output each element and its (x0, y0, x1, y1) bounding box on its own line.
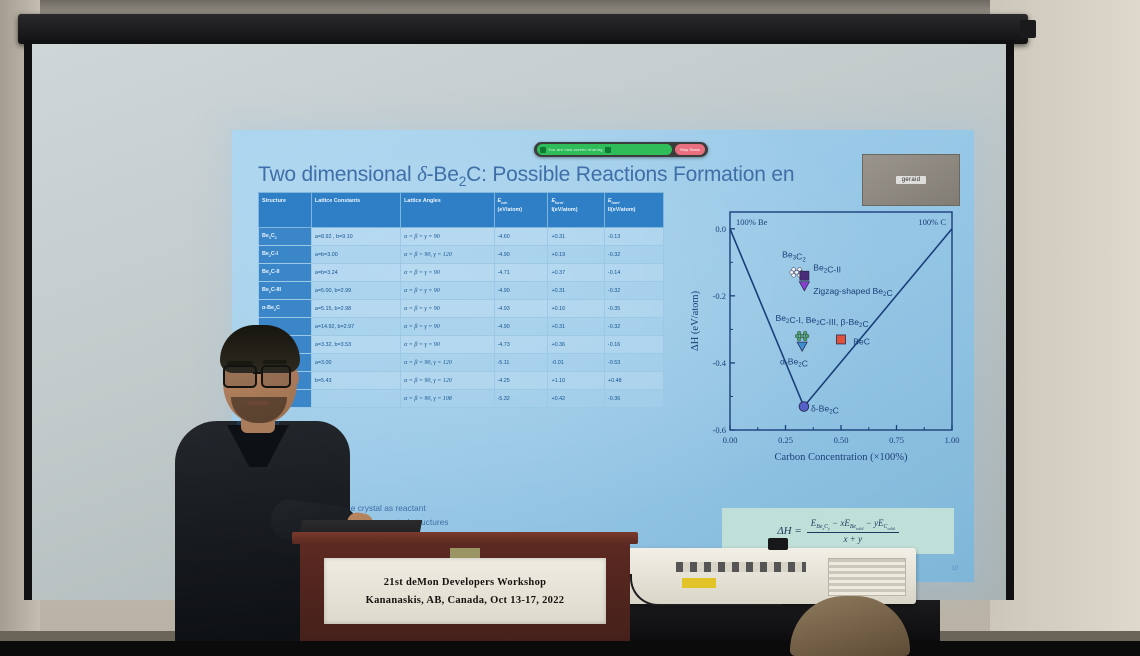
cell-eform2: -0.35 (604, 300, 663, 318)
cell-lattice-constants: a=5.00, b=2.99 (311, 282, 400, 300)
chart-corner-label-right: 100% C (918, 217, 946, 227)
screen-share-icon (540, 147, 546, 153)
chart-svg: 100% Be100% C0.000.250.500.751.000.0-0.2… (684, 186, 962, 486)
chart-ylabel: ΔH (eV/atom) (690, 290, 701, 351)
presenter-mouth (247, 401, 269, 405)
table-header-row: Structure Lattice Constants Lattice Angl… (259, 193, 664, 228)
cell-eform1: -0.01 (548, 354, 604, 372)
conference-room: You are now screen sharing Stop Share ge… (0, 0, 1140, 641)
chart-point-square (800, 271, 809, 280)
camera-icon (768, 538, 788, 550)
cell-lattice-constants: a=8.92 , b=9.10 (311, 228, 400, 246)
cell-lattice-angles: α = β = γ = 90 (401, 282, 494, 300)
cell-ecoh: -4.93 (494, 300, 548, 318)
slide-title-prefix: Two dimensional (258, 163, 417, 186)
stop-share-button[interactable]: Stop Share (675, 144, 705, 155)
cell-ecoh: -4.90 (494, 282, 548, 300)
chart-annotation: Be2C-II (813, 263, 841, 275)
table-row: Be2C-IIa=b=3.24α = β = γ = 90-4.71+0.37-… (259, 264, 664, 282)
cell-lattice-constants: a=b=3.24 (311, 264, 400, 282)
chart-point-square (837, 335, 846, 344)
cell-lattice-angles: α = β = 90, γ = 120 (401, 372, 494, 390)
projector-cable (630, 574, 782, 606)
chevron-down-icon[interactable] (605, 147, 611, 153)
marker-cluster-dot (800, 334, 804, 338)
chart-point-triangle (797, 342, 807, 351)
podium-sign-line-1: 21st deMon Developers Workshop (384, 577, 547, 588)
cell-lattice-angles: α = β = γ = 90 (401, 264, 494, 282)
projector-ports (676, 562, 806, 572)
chart-annotation: BeC (853, 336, 870, 346)
cell-eform2: -0.13 (604, 228, 663, 246)
cell-eform2: -0.32 (604, 282, 663, 300)
col-lattice-constants: Lattice Constants (311, 193, 400, 228)
formula-lhs: ΔH = (777, 525, 802, 537)
slide-title-delta: δ (417, 162, 427, 186)
slide-title-sub: 2 (459, 174, 466, 189)
cell-eform1: +0.31 (548, 282, 604, 300)
slide-title-rest: C: Possible Reactions Formation en (466, 163, 794, 186)
col-eform2: Eform'II(eV/atom) (604, 193, 663, 228)
cell-eform1: +1.10 (548, 372, 604, 390)
marker-cluster-dot (805, 334, 809, 338)
cell-structure: Be2C-III (259, 282, 312, 300)
cell-eform2: -0.32 (604, 318, 663, 336)
col-lattice-angles: Lattice Angles (401, 193, 494, 228)
podium-sign: 21st deMon Developers Workshop Kananaski… (324, 558, 606, 624)
table-row: α-Be2Ca=5.15, b=2.98α = β = γ = 90-4.93+… (259, 300, 664, 318)
cell-eform1: +0.31 (548, 318, 604, 336)
share-status-text: You are now screen sharing (548, 147, 603, 152)
cell-structure: Be2C-I (259, 246, 312, 264)
cell-eform1: +0.31 (548, 228, 604, 246)
cell-ecoh: -4.25 (494, 372, 548, 390)
table-row: Be2C-Ia=b=3.00α = β = 90, γ = 120-4.90+0… (259, 246, 664, 264)
marker-triangle (799, 282, 809, 291)
cell-structure: Be3C2 (259, 228, 312, 246)
marker-square (800, 271, 809, 280)
cell-ecoh: -4.90 (494, 318, 548, 336)
screen-sharing-status-pill: You are now screen sharing (537, 144, 672, 155)
cell-ecoh: -4.90 (494, 246, 548, 264)
cell-eform2: -0.36 (604, 390, 663, 408)
projector-vent (828, 558, 906, 596)
projector (620, 548, 916, 604)
col-structure: Structure (259, 193, 312, 228)
cell-lattice-angles: α = β = 90, γ = 108 (401, 390, 494, 408)
chart-annotation: Be2C-I, Be2C-III, β-Be2C (776, 313, 869, 329)
cell-eform1: +0.42 (548, 390, 604, 408)
chart-xtick-label: 0.00 (723, 435, 738, 445)
cell-lattice-constants: a=5.15, b=2.98 (311, 300, 400, 318)
cell-eform2: -0.14 (604, 264, 663, 282)
cell-ecoh: -4.71 (494, 264, 548, 282)
cell-ecoh: -4.60 (494, 228, 548, 246)
cell-ecoh: -5.32 (494, 390, 548, 408)
cell-eform2: -0.16 (604, 336, 663, 354)
cell-eform2: +0.48 (604, 372, 663, 390)
formula-denominator: x + y (844, 533, 863, 544)
cell-ecoh: -4.73 (494, 336, 548, 354)
chart-corner-label-left: 100% Be (736, 217, 768, 227)
projection-screen-frame: You are now screen sharing Stop Share ge… (24, 40, 1014, 600)
cell-lattice-angles: α = β = 90, γ = 120 (401, 354, 494, 372)
glasses-lens-left (223, 365, 257, 388)
presenter-eyebrow-right (263, 360, 287, 364)
marker-circle (799, 402, 809, 412)
table-row: Be2C-IIIa=5.00, b=2.99α = β = γ = 90-4.9… (259, 282, 664, 300)
marker-cluster-dot (790, 270, 794, 274)
cell-eform1: +0.37 (548, 264, 604, 282)
chart-point-circle (799, 402, 809, 412)
formula-numerator: EBexCy − xEBesolid − yECsolid (807, 518, 899, 534)
chart-ytick-label: -0.2 (713, 291, 726, 301)
cell-lattice-angles: α = β = γ = 90 (401, 318, 494, 336)
chart-ytick-label: -0.4 (713, 358, 727, 368)
cell-eform1: +0.16 (548, 300, 604, 318)
chart-xtick-label: 0.25 (778, 435, 793, 445)
cell-eform1: +0.19 (548, 246, 604, 264)
chart-xlabel: Carbon Concentration (×100%) (774, 452, 908, 463)
chart-xtick-label: 0.50 (834, 435, 849, 445)
chart-xtick-label: 1.00 (945, 435, 960, 445)
col-ecoh: Ecoh(eV/atom) (494, 193, 548, 228)
slide-page-number: 10 (951, 566, 958, 572)
marker-triangle (797, 342, 807, 351)
cell-lattice-angles: α = β = 90, γ = 120 (401, 246, 494, 264)
cell-structure: Be2C-II (259, 264, 312, 282)
podium-sign-line-2: Kananaskis, AB, Canada, Oct 13-17, 2022 (366, 595, 565, 606)
cell-ecoh: -5.11 (494, 354, 548, 372)
cell-eform1: +0.36 (548, 336, 604, 354)
chart-point-cluster (795, 331, 809, 341)
col-eform1: Eform'I(eV/atom) (548, 193, 604, 228)
glasses-lens-right (261, 365, 291, 388)
chart-ytick-label: -0.6 (713, 425, 726, 435)
marker-cluster-dot (795, 270, 799, 274)
chart-ytick-label: 0.0 (715, 224, 726, 234)
zoom-share-toolbar[interactable]: You are now screen sharing Stop Share (534, 142, 708, 157)
stop-share-label: Stop Share (680, 147, 700, 152)
cell-lattice-angles: α = β = γ = 90 (401, 336, 494, 354)
chart-annotation: α-Be2C (780, 357, 808, 369)
cell-lattice-constants: a=b=3.00 (311, 246, 400, 264)
marker-square (837, 335, 846, 344)
chart-point-triangle (799, 282, 809, 291)
formation-energy-chart: 100% Be100% C0.000.250.500.751.000.0-0.2… (684, 186, 962, 486)
podium-top-edge (292, 532, 638, 544)
cell-eform2: -0.53 (604, 354, 663, 372)
chart-annotation: Be3C2 (782, 249, 806, 263)
chart-annotation: δ-Be2C (811, 404, 839, 416)
table-row: Be3C2a=8.92 , b=9.10α = β = γ = 90-4.60+… (259, 228, 664, 246)
marker-cluster-dot (795, 334, 799, 338)
slide-title-mid: -Be (427, 163, 459, 186)
chart-xtick-label: 0.75 (889, 435, 904, 445)
podium: 21st deMon Developers Workshop Kananaski… (300, 540, 630, 641)
cell-lattice-angles: α = β = γ = 90 (401, 300, 494, 318)
cell-lattice-angles: α = β = γ = 90 (401, 228, 494, 246)
chart-annotation: Zigzag-shaped Be2C (813, 286, 892, 298)
marker-cluster (795, 331, 809, 341)
cell-structure: α-Be2C (259, 300, 312, 318)
cell-eform2: -0.32 (604, 246, 663, 264)
presenter-glasses (221, 365, 301, 387)
